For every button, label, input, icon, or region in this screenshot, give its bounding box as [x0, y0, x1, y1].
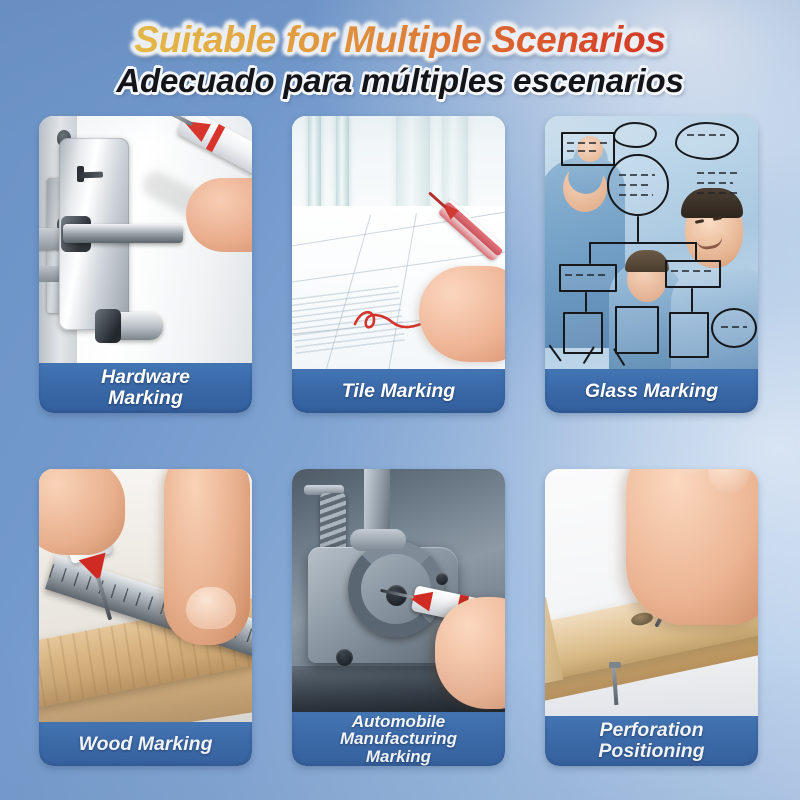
scenario-card-wood-marking[interactable]: Wood Marking	[39, 469, 252, 766]
scenario-card-grid: Hardware Marking	[0, 116, 800, 788]
caption-line: Marking	[95, 388, 196, 409]
page-title-english: Suitable for Multiple Scenarios	[0, 21, 800, 58]
scenario-photo-perforation-positioning: LO	[545, 469, 758, 716]
caption-line: Perforation	[592, 720, 710, 741]
scenario-photo-glass-marking	[545, 116, 758, 369]
scenario-photo-hardware-marking	[39, 116, 252, 363]
header: Suitable for Multiple Scenarios Adecuado…	[0, 0, 800, 112]
card-caption-glass-marking: Glass Marking	[545, 369, 758, 413]
card-caption-hardware-marking: Hardware Marking	[39, 363, 252, 413]
scenario-photo-tile-marking	[292, 116, 505, 369]
scenario-photo-automobile-manufacturing-marking: LON	[292, 469, 505, 712]
caption-line: Glass Marking	[579, 381, 724, 402]
page-title-spanish: Adecuado para múltiples escenarios	[0, 62, 800, 100]
card-caption-wood-marking: Wood Marking	[39, 722, 252, 766]
card-caption-automobile-manufacturing-marking: Automobile Manufacturing Marking	[292, 712, 505, 766]
card-caption-tile-marking: Tile Marking	[292, 369, 505, 413]
scenario-card-automobile-manufacturing-marking[interactable]: LON Automobile Manufacturing Marking	[292, 469, 505, 766]
hand-illustration	[39, 469, 125, 555]
caption-line: Automobile	[334, 713, 463, 731]
scenario-card-perforation-positioning[interactable]: LO Perforation Positioning	[545, 469, 758, 766]
card-caption-perforation-positioning: Perforation Positioning	[545, 716, 758, 766]
caption-line: Tile Marking	[336, 381, 461, 402]
poster-canvas: Suitable for Multiple Scenarios Adecuado…	[0, 0, 800, 800]
caption-line: Wood Marking	[73, 734, 219, 755]
caption-line: Manufacturing	[334, 730, 463, 748]
caption-line: Marking	[334, 748, 463, 766]
hand-illustration	[626, 469, 758, 625]
caption-line: Hardware	[95, 367, 196, 388]
scenario-card-hardware-marking[interactable]: Hardware Marking	[39, 116, 252, 413]
scenario-photo-wood-marking	[39, 469, 252, 722]
caption-line: Positioning	[592, 741, 710, 762]
scenario-card-tile-marking[interactable]: Tile Marking	[292, 116, 505, 413]
scenario-card-glass-marking[interactable]: Glass Marking	[545, 116, 758, 413]
